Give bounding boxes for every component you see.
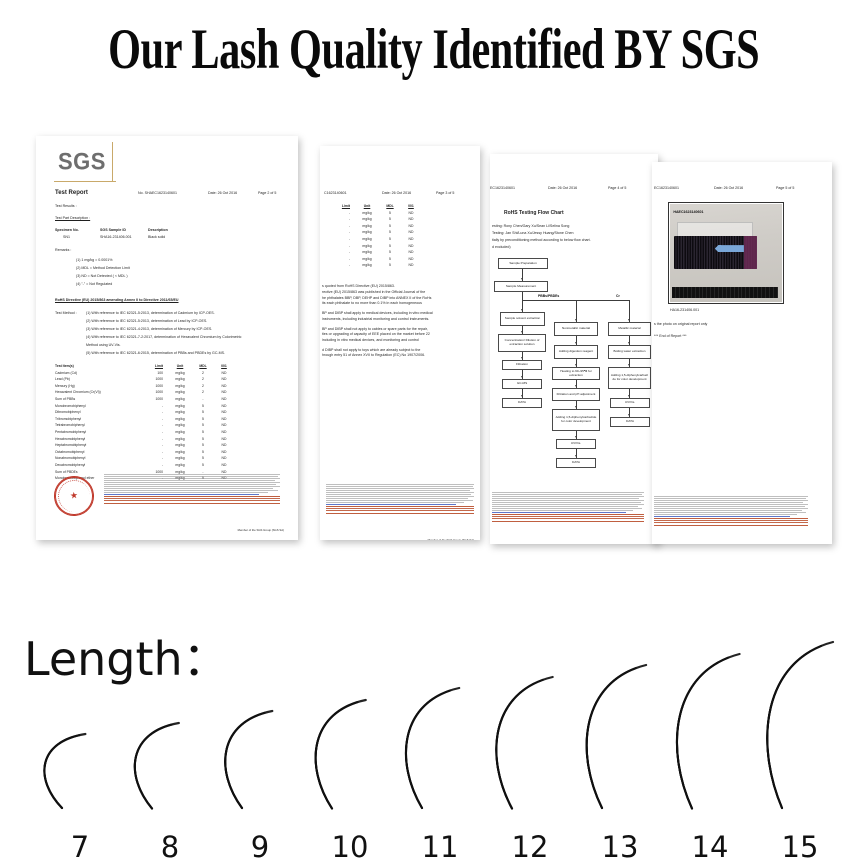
page3-note-line: its each phthalate to no more than 0.1% … bbox=[322, 301, 422, 305]
cell-result: ND bbox=[217, 384, 231, 388]
table-row: Hexabromobiphenyl-mg/kg5ND bbox=[55, 437, 255, 444]
cell-test-item: Nonabromobiphenyl bbox=[55, 456, 141, 460]
cell-result: ND bbox=[217, 456, 231, 460]
remark-item: (3) ND = Not Detected ( < MDL ) bbox=[76, 274, 128, 278]
col-mdl: MDL bbox=[384, 204, 396, 208]
cell-mdl: 5 bbox=[384, 237, 396, 241]
cell-result: ND bbox=[217, 371, 231, 375]
table-header-row: Test Item(s) Limit Unit MDL 001 bbox=[55, 364, 255, 371]
lash-curve-icon bbox=[32, 732, 128, 810]
cell-limit: 100 bbox=[147, 371, 163, 375]
doc-page-number: Page 4 of 5 bbox=[608, 186, 626, 190]
cell-limit: - bbox=[147, 456, 163, 460]
sgs-report-page-3[interactable]: C1623140601 Date: 26 Oct 2016 Page 3 of … bbox=[320, 146, 480, 540]
page3-note-line: d DIBP shall not apply to toys which are… bbox=[322, 348, 420, 352]
page3-note-line: BP and DIBP shall not apply to cables or… bbox=[322, 327, 428, 331]
test-method-item: (5) With reference to IEC 62321-6:2015, … bbox=[86, 351, 225, 355]
remark-item: (1) 1 mg/kg = 0.0001% bbox=[76, 258, 112, 262]
flow-node-gcms: GC-MS bbox=[502, 379, 542, 389]
flow-chart-note: tially by preconditioning method accordi… bbox=[492, 238, 591, 242]
flow-node-uvvis-right: UV/Vis. bbox=[610, 398, 650, 408]
doc-page-number: Page 2 of 5 bbox=[258, 191, 276, 195]
cell-test-item: Dibromobiphenyl bbox=[55, 410, 141, 414]
doc-page-number: Page 3 of 5 bbox=[436, 191, 454, 195]
lash-length-value: 9 bbox=[212, 833, 308, 862]
table-row: -mg/kg5ND bbox=[320, 211, 442, 218]
cell-unit: mg/kg bbox=[171, 404, 189, 408]
cell-result: ND bbox=[404, 224, 418, 228]
title-bar: Our Lash Quality Identified BY SGS bbox=[0, 0, 868, 100]
cell-unit: mg/kg bbox=[171, 450, 189, 454]
cell-limit: - bbox=[334, 230, 350, 234]
cell-result: ND bbox=[404, 263, 418, 267]
cell-result: ND bbox=[217, 404, 231, 408]
photo-ruler bbox=[672, 287, 777, 298]
cell-mdl: 5 bbox=[197, 463, 209, 467]
page3-note-line: including in vitro medical devices, and … bbox=[322, 338, 419, 342]
cell-unit: mg/kg bbox=[171, 456, 189, 460]
test-method-item: Method using UV-Vis. bbox=[86, 343, 121, 347]
lash-curve-icon bbox=[302, 698, 398, 811]
page3-note-line: hrough entry 51 of Annex XVII to Regulat… bbox=[322, 353, 425, 357]
flow-node-uvvis-mid: UV/Vis. bbox=[556, 439, 596, 449]
cell-result: ND bbox=[217, 423, 231, 427]
page-title: Our Lash Quality Identified BY SGS bbox=[108, 21, 759, 78]
cell-mdl: - bbox=[197, 470, 209, 474]
doc-date: Date: 26 Oct 2016 bbox=[208, 191, 237, 195]
sgs-logo-rule-horizontal bbox=[54, 181, 116, 182]
cell-limit: - bbox=[147, 437, 163, 441]
page3-note-line: s quoted from RoHS Directive (EU) 2015/8… bbox=[322, 284, 395, 288]
test-method-item: (3) With reference to IEC 62321-4:2013, … bbox=[86, 327, 212, 331]
page3-note-line: instruments, including industrial monito… bbox=[322, 317, 429, 321]
cell-limit: 1000 bbox=[147, 470, 163, 474]
cell-unit: mg/kg bbox=[358, 217, 376, 221]
cell-limit: 1000 bbox=[147, 377, 163, 381]
lash-length-value: 11 bbox=[392, 833, 488, 862]
table-row: -mg/kg5ND bbox=[320, 244, 442, 251]
table-row: Heptabromobiphenyl-mg/kg5ND bbox=[55, 443, 255, 450]
cell-result: ND bbox=[217, 437, 231, 441]
flow-node-sample-preparation: Sample Preparation bbox=[498, 258, 548, 269]
cell-unit: mg/kg bbox=[171, 470, 189, 474]
table-row: Octabromobiphenyl-mg/kg5ND bbox=[55, 450, 255, 457]
specimen-col-sampleid: SGS Sample ID bbox=[100, 228, 126, 232]
cell-limit: - bbox=[334, 224, 350, 228]
flow-chart-title: RoHS Testing Flow Chart bbox=[504, 210, 564, 216]
flow-node-nonmetallic-material: Nonmetallic material bbox=[554, 322, 598, 336]
cell-result: ND bbox=[217, 397, 231, 401]
cell-mdl: 5 bbox=[384, 257, 396, 261]
sample-photo: HAEC1623140601 bbox=[670, 204, 782, 302]
cell-limit: 1000 bbox=[147, 384, 163, 388]
cell-mdl: 5 bbox=[384, 250, 396, 254]
test-method-item: (4) With reference to IEC 62321-7-2:2017… bbox=[86, 335, 241, 339]
remark-item: (2) MDL = Method Detection Limit bbox=[76, 266, 130, 270]
sample-photo-frame: HAEC1623140601 bbox=[668, 202, 784, 304]
document-fineprint bbox=[492, 492, 644, 538]
specimen-col-description: Description bbox=[148, 228, 168, 232]
cell-unit: mg/kg bbox=[171, 463, 189, 467]
cell-unit: mg/kg bbox=[171, 371, 189, 375]
flow-node-concentration-dilution: Concentration/ Dilution of extraction so… bbox=[498, 334, 546, 352]
cell-result: ND bbox=[217, 450, 231, 454]
table-row: Decabromobiphenyl-mg/kg5ND bbox=[55, 463, 255, 470]
cell-result: ND bbox=[404, 250, 418, 254]
flow-chart-note: Testing: Jan Shi/Luna Xu/Jessy Huang/Sto… bbox=[492, 231, 574, 235]
table-row: -mg/kg5ND bbox=[320, 230, 442, 237]
cell-unit: mg/kg bbox=[171, 437, 189, 441]
cell-limit: - bbox=[334, 244, 350, 248]
table-body: -mg/kg5ND-mg/kg5ND-mg/kg5ND-mg/kg5ND-mg/… bbox=[320, 211, 442, 270]
document-fineprint bbox=[654, 496, 808, 542]
doc-number: C1623140601 bbox=[324, 191, 347, 195]
flow-node-metallic-material: Metallic material bbox=[608, 322, 651, 336]
cell-unit: mg/kg bbox=[358, 237, 376, 241]
flow-branch-label-cr: Cr bbox=[616, 294, 620, 298]
lash-length-item[interactable]: 9 bbox=[212, 560, 308, 868]
cell-limit: - bbox=[334, 257, 350, 261]
doc-date: Date: 26 Oct 2016 bbox=[714, 186, 743, 190]
cell-test-item: Tetrabromobiphenyl bbox=[55, 423, 141, 427]
table-row: Dibromobiphenyl-mg/kg5ND bbox=[55, 410, 255, 417]
page3-note-line: rective (EU) 2015/863 was published in t… bbox=[322, 290, 425, 294]
cell-mdl: 5 bbox=[197, 410, 209, 414]
cell-unit: mg/kg bbox=[171, 423, 189, 427]
cell-test-item: Cadmium (Cd) bbox=[55, 371, 141, 375]
cell-result: ND bbox=[404, 244, 418, 248]
cell-mdl: 5 bbox=[384, 263, 396, 267]
cell-result: ND bbox=[217, 463, 231, 467]
cell-unit: mg/kg bbox=[358, 211, 376, 215]
flow-node-adding-diphenylcarbazide-right: Adding 1,5-diphenylcarbazi de for color … bbox=[608, 367, 651, 389]
cell-result: ND bbox=[404, 230, 418, 234]
table-row: -mg/kg5ND bbox=[320, 237, 442, 244]
cell-test-item: Mercury (Hg) bbox=[55, 384, 141, 388]
table-row: -mg/kg5ND bbox=[320, 217, 442, 224]
sgs-report-page-5[interactable]: EC1623140601 Date: 26 Oct 2016 Page 5 of… bbox=[652, 162, 832, 544]
cell-test-item: Decabromobiphenyl bbox=[55, 463, 141, 467]
page3-note-line: ties or upgrading of capacity of EEE pla… bbox=[322, 332, 430, 336]
cell-mdl: 5 bbox=[197, 456, 209, 460]
cell-result: ND bbox=[217, 390, 231, 394]
cell-mdl: 2 bbox=[197, 377, 209, 381]
cell-result: ND bbox=[217, 377, 231, 381]
cell-mdl: 5 bbox=[384, 224, 396, 228]
sgs-report-page-4[interactable]: EC1623140601 Date: 26 Oct 2016 Page 4 of… bbox=[490, 154, 658, 544]
cell-test-item: Monobromobiphenyl bbox=[55, 404, 141, 408]
cell-limit: - bbox=[147, 404, 163, 408]
test-method-item: (2) With reference to IEC 62321-5:2013, … bbox=[86, 319, 207, 323]
cell-limit: - bbox=[147, 423, 163, 427]
cell-unit: mg/kg bbox=[358, 224, 376, 228]
table-body: Cadmium (Cd)100mg/kg2NDLead (Pb)1000mg/k… bbox=[55, 371, 255, 483]
cell-mdl: 5 bbox=[197, 443, 209, 447]
rohs-directive-heading: RoHS Directive (EU) 2015/863 amending An… bbox=[55, 298, 179, 302]
lash-curve-icon bbox=[482, 675, 578, 811]
cell-limit: - bbox=[334, 263, 350, 267]
flow-node-filtration-ph: Filtration and pH adjustment bbox=[552, 388, 600, 401]
cell-unit: mg/kg bbox=[358, 230, 376, 234]
specimen-value-no: SN1 bbox=[63, 235, 70, 239]
cell-mdl: 5 bbox=[197, 437, 209, 441]
table-row: Nonabromobiphenyl-mg/kg5ND bbox=[55, 456, 255, 463]
cell-unit: mg/kg bbox=[358, 244, 376, 248]
cell-mdl: - bbox=[197, 397, 209, 401]
flow-node-data-mid: DATA bbox=[556, 458, 596, 468]
cell-result: ND bbox=[217, 443, 231, 447]
document-fineprint bbox=[326, 484, 474, 530]
cell-unit: mg/kg bbox=[171, 390, 189, 394]
doc-number: EC1623140601 bbox=[490, 186, 515, 190]
cell-unit: mg/kg bbox=[358, 250, 376, 254]
lash-curve-icon bbox=[392, 686, 488, 810]
lash-length-value: 10 bbox=[302, 833, 398, 862]
cell-mdl: 5 bbox=[197, 423, 209, 427]
cell-test-item: Tribromobiphenyl bbox=[55, 417, 141, 421]
cell-limit: - bbox=[334, 237, 350, 241]
cell-mdl: 5 bbox=[384, 230, 396, 234]
remarks-label: Remarks : bbox=[55, 248, 71, 252]
col-limit: Limit bbox=[147, 364, 163, 368]
cell-test-item: Sum of PBDEs bbox=[55, 470, 141, 474]
cell-unit: mg/kg bbox=[171, 377, 189, 381]
test-results-label: Test Results : bbox=[55, 204, 77, 208]
table-row: -mg/kg5ND bbox=[320, 250, 442, 257]
table-row: Hexavalent Chromium (Cr(VI))1000mg/kg2ND bbox=[55, 390, 255, 397]
cell-mdl: 5 bbox=[197, 450, 209, 454]
cell-test-item: Heptabromobiphenyl bbox=[55, 443, 141, 447]
flow-node-heating-extraction: Heating to 90~95℃ for extraction bbox=[552, 367, 600, 380]
table-header-row: Limit Unit MDL 001 bbox=[320, 204, 442, 211]
lash-length-value: 7 bbox=[32, 833, 128, 862]
remark-item: (4) "-" = Not Regulated bbox=[76, 282, 112, 286]
cell-unit: mg/kg bbox=[171, 443, 189, 447]
lash-length-value: 13 bbox=[572, 833, 668, 862]
cell-unit: mg/kg bbox=[171, 397, 189, 401]
cell-mdl: 5 bbox=[197, 430, 209, 434]
lash-length-value: 15 bbox=[752, 833, 848, 862]
cell-unit: mg/kg bbox=[358, 263, 376, 267]
col-limit: Limit bbox=[334, 204, 350, 208]
table-row: Mercury (Hg)1000mg/kg2ND bbox=[55, 384, 255, 391]
test-method-label: Test Method : bbox=[55, 311, 77, 315]
lash-curve-icon bbox=[572, 663, 668, 810]
cell-limit: - bbox=[147, 443, 163, 447]
cell-limit: - bbox=[147, 410, 163, 414]
lash-length-value: 12 bbox=[482, 833, 578, 862]
table-row: Pentabromobiphenyl-mg/kg5ND bbox=[55, 430, 255, 437]
table-row: Tribromobiphenyl-mg/kg5ND bbox=[55, 417, 255, 424]
lash-length-item[interactable]: 10 bbox=[302, 560, 398, 868]
cell-result: ND bbox=[217, 410, 231, 414]
table-row: Cadmium (Cd)100mg/kg2ND bbox=[55, 371, 255, 378]
flow-node-filtration: Filtration bbox=[502, 360, 542, 370]
sgs-documents-strip: SGS Test Report No. SHAEC1623140601 Date… bbox=[0, 118, 868, 558]
lash-length-value: 14 bbox=[662, 833, 758, 862]
cell-limit: - bbox=[147, 430, 163, 434]
cell-limit: - bbox=[334, 250, 350, 254]
cell-limit: - bbox=[334, 211, 350, 215]
lash-length-item[interactable]: 11 bbox=[392, 560, 488, 868]
cell-test-item: Pentabromobiphenyl bbox=[55, 430, 141, 434]
results-table: Test Item(s) Limit Unit MDL 001 Cadmium … bbox=[55, 364, 255, 483]
cell-mdl: 5 bbox=[384, 217, 396, 221]
cell-unit: mg/kg bbox=[171, 384, 189, 388]
lash-length-item[interactable]: 7 bbox=[32, 560, 128, 868]
flow-node-sample-solvent-extraction: Sample solvent extraction bbox=[500, 312, 545, 326]
cell-limit: - bbox=[147, 450, 163, 454]
cell-test-item: Octabromobiphenyl bbox=[55, 450, 141, 454]
cell-limit: - bbox=[334, 217, 350, 221]
cell-result: ND bbox=[404, 237, 418, 241]
lash-length-item[interactable]: 12 bbox=[482, 560, 578, 868]
cell-test-item: Lead (Pb) bbox=[55, 377, 141, 381]
cell-mdl: 5 bbox=[197, 417, 209, 421]
cell-unit: mg/kg bbox=[358, 257, 376, 261]
lash-length-item[interactable]: 14 bbox=[662, 560, 758, 868]
cell-result: ND bbox=[404, 257, 418, 261]
flow-chart-note: esting: Rony Chen/Gary Xu/Sean Li/Selina… bbox=[492, 224, 569, 228]
flow-node-data-right: DATA bbox=[610, 417, 650, 427]
cell-mdl: 5 bbox=[384, 244, 396, 248]
doc-date: Date: 26 Oct 2016 bbox=[548, 186, 577, 190]
cell-test-item: Hexavalent Chromium (Cr(VI)) bbox=[55, 390, 141, 394]
specimen-value-sampleid: SHA16-231406.001 bbox=[100, 235, 132, 239]
cell-result: ND bbox=[217, 430, 231, 434]
lash-length-item[interactable]: 13 bbox=[572, 560, 668, 868]
flow-node-boiling-water-extraction: Boiling water extraction bbox=[608, 345, 651, 359]
sgs-report-page-2[interactable]: SGS Test Report No. SHAEC1623140601 Date… bbox=[36, 136, 298, 540]
cell-test-item: Hexabromobiphenyl bbox=[55, 437, 141, 441]
doc-type-label: Test Report bbox=[55, 190, 88, 196]
col-unit: Unit bbox=[171, 364, 189, 368]
doc-number: EC1623140601 bbox=[654, 186, 679, 190]
document-fineprint bbox=[104, 474, 280, 520]
table-row: -mg/kg5ND bbox=[320, 224, 442, 231]
cell-unit: mg/kg bbox=[171, 417, 189, 421]
table-row: Tetrabromobiphenyl-mg/kg5ND bbox=[55, 423, 255, 430]
cell-unit: mg/kg bbox=[171, 410, 189, 414]
specimen-col-no: Specimen No. bbox=[55, 228, 79, 232]
cell-limit: - bbox=[147, 463, 163, 467]
table-row: Lead (Pb)1000mg/kg2ND bbox=[55, 377, 255, 384]
test-part-description-label: Test Part Description : bbox=[55, 216, 90, 220]
cell-mdl: 5 bbox=[197, 404, 209, 408]
photo-caption: HA16-231406.001 bbox=[670, 308, 699, 312]
cell-result: ND bbox=[404, 211, 418, 215]
doc-date: Date: 26 Oct 2016 bbox=[382, 191, 411, 195]
lash-length-item[interactable]: 8 bbox=[122, 560, 218, 868]
lash-length-value: 8 bbox=[122, 833, 218, 862]
photo-lash-tray-end bbox=[744, 236, 757, 268]
lash-curve-icon bbox=[752, 640, 848, 810]
flow-node-adding-digestion-reagent: Adding digestion reagent bbox=[554, 345, 598, 359]
photo-pointer-arrow-icon bbox=[715, 245, 744, 252]
cell-test-item: Sum of PBBs bbox=[55, 397, 141, 401]
flow-branch-label-pbbs: PBBs/PBDEs bbox=[538, 294, 559, 298]
cell-limit: - bbox=[147, 417, 163, 421]
col-result: 001 bbox=[404, 204, 418, 208]
lash-curve-icon bbox=[662, 652, 758, 811]
table-row: -mg/kg5ND bbox=[320, 263, 442, 270]
photo-sample-code: HAEC1623140601 bbox=[673, 210, 703, 214]
flow-node-sample-measurement: Sample Measurement bbox=[494, 281, 548, 292]
lash-curve-icon bbox=[212, 709, 308, 810]
seal-star-icon: ★ bbox=[69, 491, 78, 501]
end-of-report-note: *** End of Report *** bbox=[654, 334, 687, 338]
doc-page-number: Page 5 of 5 bbox=[776, 186, 794, 190]
col-unit: Unit bbox=[358, 204, 376, 208]
flow-chart-note: d excluded) bbox=[492, 245, 511, 249]
cell-result: ND bbox=[217, 417, 231, 421]
cell-limit: 1000 bbox=[147, 397, 163, 401]
page3-note-line: he phthalates BBP, DBP, DEHP and DIBP in… bbox=[322, 296, 431, 300]
lash-length-item[interactable]: 15 bbox=[752, 560, 848, 868]
cell-limit: 1000 bbox=[147, 390, 163, 394]
test-method-item: (1) With reference to IEC 62321-5:2013, … bbox=[86, 311, 215, 315]
length-section: Length： 789101112131415 bbox=[0, 560, 868, 868]
cell-mdl: 2 bbox=[197, 371, 209, 375]
photo-note: s the photo on original report only bbox=[654, 322, 707, 326]
footer-member-text: Member of the SGS Group (SGS SA) bbox=[156, 528, 284, 532]
table-row: Monobromobiphenyl-mg/kg5ND bbox=[55, 404, 255, 411]
cell-result: ND bbox=[217, 470, 231, 474]
cell-unit: mg/kg bbox=[171, 430, 189, 434]
sgs-logo: SGS bbox=[58, 148, 106, 176]
table-row: Sum of PBBs1000mg/kg-ND bbox=[55, 397, 255, 404]
col-mdl: MDL bbox=[197, 364, 209, 368]
results-table: Limit Unit MDL 001 -mg/kg5ND-mg/kg5ND-mg… bbox=[320, 204, 442, 270]
table-row: -mg/kg5ND bbox=[320, 257, 442, 264]
cell-mdl: 2 bbox=[197, 384, 209, 388]
flow-node-adding-diphenylcarbazide-mid: Adding 1,5-diphenylcarbazide for color d… bbox=[552, 409, 600, 431]
specimen-value-description: Black solid bbox=[148, 235, 165, 239]
lash-curve-icon bbox=[122, 721, 218, 811]
cell-mdl: 5 bbox=[384, 211, 396, 215]
col-test-item: Test Item(s) bbox=[55, 364, 141, 368]
sgs-logo-rule-vertical bbox=[112, 142, 113, 182]
cell-mdl: 2 bbox=[197, 390, 209, 394]
doc-number: No. SHAEC1623140601 bbox=[138, 191, 177, 195]
page3-note-line: BP and DIBP shall apply to medical devic… bbox=[322, 311, 433, 315]
cell-result: ND bbox=[404, 217, 418, 221]
flow-node-data-left: DATA bbox=[502, 398, 542, 408]
lash-length-row: 789101112131415 bbox=[0, 560, 868, 868]
col-result: 001 bbox=[217, 364, 231, 368]
footer-member-text: Member of the SGS Group (SGS SA) bbox=[350, 538, 474, 540]
